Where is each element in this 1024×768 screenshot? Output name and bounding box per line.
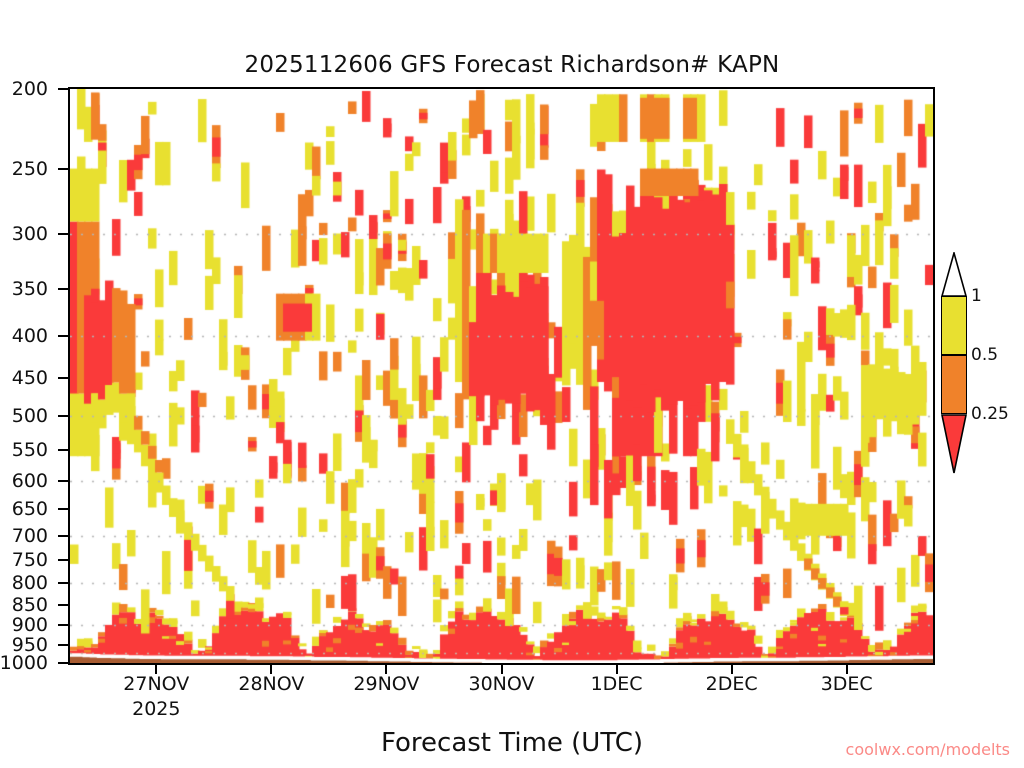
y-axis-tick-label: 500 xyxy=(12,405,48,427)
y-axis-tick-mark xyxy=(58,559,68,561)
x-axis-tick-label: 30NOV xyxy=(468,673,534,695)
y-axis-tick-mark xyxy=(58,335,68,337)
y-axis-tick-mark xyxy=(58,168,68,170)
heatmap-canvas xyxy=(70,89,933,663)
x-axis-tick-mark xyxy=(385,665,387,674)
x-axis-year-label: 2025 xyxy=(132,698,180,720)
y-axis-tick-mark xyxy=(58,377,68,379)
y-axis-tick-label: 350 xyxy=(12,278,48,300)
x-axis-tick-label: 2DEC xyxy=(706,673,758,695)
y-axis-tick-mark xyxy=(58,415,68,417)
x-axis-tick-mark xyxy=(731,665,733,674)
y-axis-tick-mark xyxy=(58,480,68,482)
page-title: 2025112606 GFS Forecast Richardson# KAPN xyxy=(0,52,1024,78)
y-axis-tick-label: 400 xyxy=(12,325,48,347)
colorbar-segment xyxy=(941,296,967,355)
watermark: coolwx.com/modelts xyxy=(846,740,1010,759)
colorbar-under-arrow xyxy=(941,414,967,474)
colorbar-segment xyxy=(941,355,967,414)
y-axis-tick-label: 450 xyxy=(12,367,48,389)
y-axis-tick-mark xyxy=(58,535,68,537)
colorbar-tick-label: 0.5 xyxy=(971,345,998,365)
x-axis-tick-mark xyxy=(155,665,157,674)
y-axis-tick-label: 550 xyxy=(12,439,48,461)
colorbar-tick-label: 0.25 xyxy=(971,404,1009,424)
x-axis-tick-mark xyxy=(616,665,618,674)
y-axis-tick-label: 700 xyxy=(12,525,48,547)
colorbar-tick-label: 1 xyxy=(971,286,982,306)
x-axis-tick-label: 3DEC xyxy=(821,673,873,695)
y-axis-tick-mark xyxy=(58,288,68,290)
y-axis-tick-mark xyxy=(58,582,68,584)
x-axis-tick-label: 28NOV xyxy=(238,673,304,695)
x-axis-tick-mark xyxy=(270,665,272,674)
x-axis: 27NOV202528NOV29NOV30NOV1DEC2DEC3DEC xyxy=(0,665,1024,725)
y-axis-tick-label: 200 xyxy=(12,78,48,100)
y-axis: 2002503003504004505005506006507007508008… xyxy=(0,87,62,665)
y-axis-tick-label: 250 xyxy=(12,158,48,180)
y-axis-tick-mark xyxy=(58,449,68,451)
y-axis-tick-label: 600 xyxy=(12,470,48,492)
y-axis-tick-mark xyxy=(58,508,68,510)
y-axis-tick-label: 750 xyxy=(12,549,48,571)
x-axis-tick-label: 1DEC xyxy=(591,673,643,695)
chart-root: 2025112606 GFS Forecast Richardson# KAPN… xyxy=(0,0,1024,768)
y-axis-tick-mark xyxy=(58,604,68,606)
colorbar-over-arrow xyxy=(941,252,967,296)
x-axis-tick-mark xyxy=(501,665,503,674)
y-axis-tick-mark xyxy=(58,88,68,90)
y-axis-tick-label: 300 xyxy=(12,223,48,245)
plot-area xyxy=(68,87,935,665)
x-axis-tick-label: 29NOV xyxy=(353,673,419,695)
y-axis-tick-mark xyxy=(58,233,68,235)
y-axis-tick-label: 850 xyxy=(12,594,48,616)
x-axis-tick-label: 27NOV xyxy=(123,673,189,695)
y-axis-tick-label: 650 xyxy=(12,498,48,520)
y-axis-tick-mark xyxy=(58,624,68,626)
y-axis-tick-label: 800 xyxy=(12,572,48,594)
colorbar-legend: 10.50.25 xyxy=(941,296,967,472)
y-axis-tick-mark xyxy=(58,644,68,646)
y-axis-tick-mark xyxy=(58,662,68,664)
x-axis-tick-mark xyxy=(846,665,848,674)
